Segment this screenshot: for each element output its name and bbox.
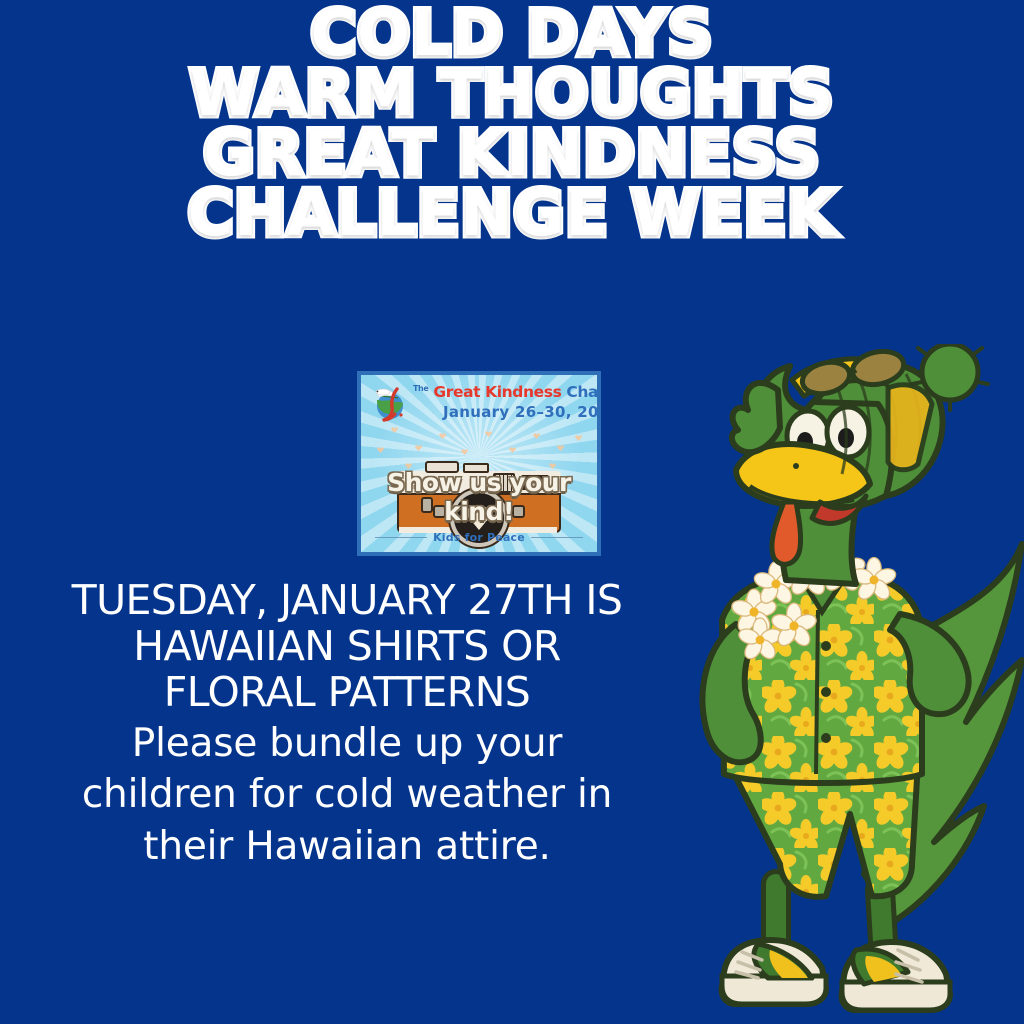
logo-brand-great: Great bbox=[433, 383, 480, 401]
great-kindness-challenge-logo: The Great Kindness Challenge January 26–… bbox=[357, 371, 601, 556]
body-emphasis-line-3: FLORAL PATTERNS bbox=[0, 670, 694, 716]
body-emphasis-line-2: HAWAIIAN SHIRTS OR bbox=[0, 624, 694, 670]
logo-brand-lockup: The Great Kindness Challenge January 26–… bbox=[369, 381, 597, 425]
headline-line-2: WARM THOUGHTS bbox=[0, 64, 1024, 124]
duck-mascot-illustration bbox=[650, 344, 1024, 1024]
mascot-right-shoe bbox=[842, 942, 950, 1010]
headline-line-3: GREAT KINDNESS bbox=[0, 124, 1024, 184]
logo-dates: January 26–30, 2026 bbox=[443, 403, 601, 421]
dove-globe-icon bbox=[371, 383, 415, 423]
logo-brand-kindness: Kindness bbox=[485, 383, 561, 401]
headline-line-4: CHALLENGE WEEK bbox=[0, 184, 1024, 244]
logo-organization: Kids for Peace bbox=[433, 531, 525, 544]
body-note-line-1: Please bundle up your bbox=[0, 720, 694, 768]
body-emphasis-line-1: TUESDAY, JANUARY 27TH IS bbox=[0, 578, 694, 624]
mascot-left-shoe bbox=[722, 940, 826, 1004]
rule-right bbox=[531, 537, 583, 538]
logo-org-row: Kids for Peace bbox=[361, 531, 597, 544]
logo-brand-text: The Great Kindness Challenge bbox=[413, 383, 601, 401]
logo-tagline: Show us your kind! bbox=[361, 468, 597, 526]
headline-block: COLD DAYS WARM THOUGHTS GREAT KINDNESS C… bbox=[0, 4, 1024, 245]
headline-line-1: COLD DAYS bbox=[0, 4, 1024, 64]
logo-brand-challenge: Challenge bbox=[566, 383, 601, 401]
logo-brand-the: The bbox=[413, 384, 428, 393]
mascot-crest bbox=[732, 383, 780, 452]
body-note-line-2: children for cold weather in bbox=[0, 771, 694, 819]
body-text-block: TUESDAY, JANUARY 27TH IS HAWAIIAN SHIRTS… bbox=[0, 578, 694, 870]
body-note-line-3: their Hawaiian attire. bbox=[0, 823, 694, 871]
rule-left bbox=[375, 537, 427, 538]
